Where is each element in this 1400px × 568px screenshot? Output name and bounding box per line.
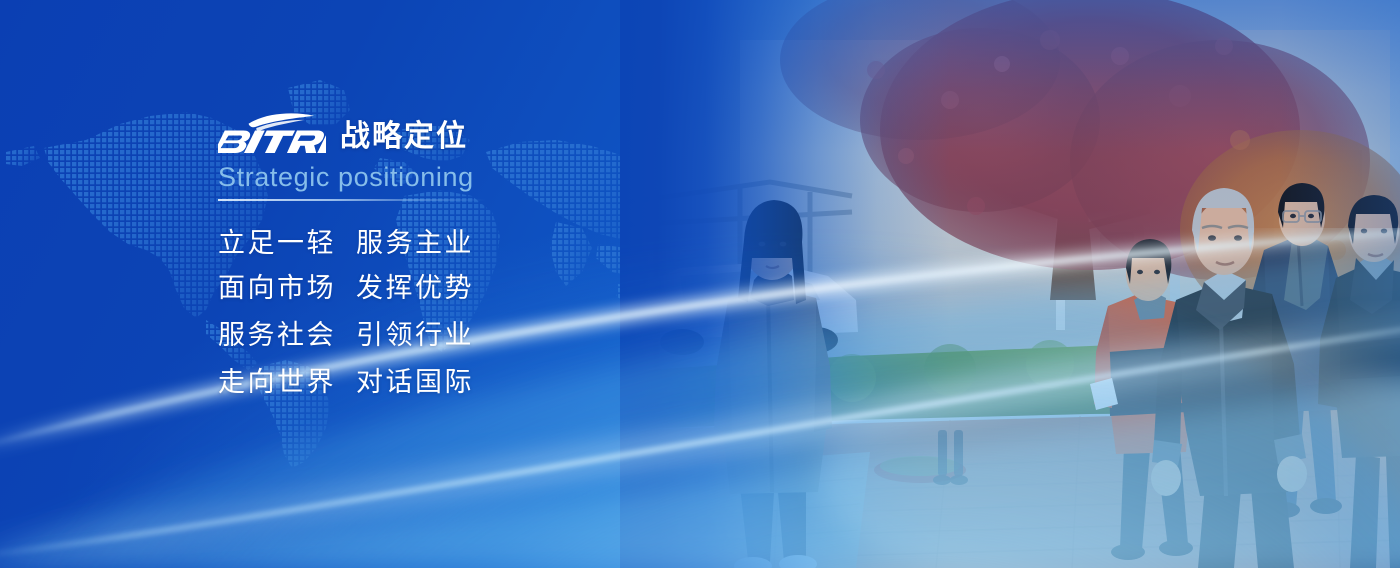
slogan-right: 发挥优势 [356,265,474,312]
slogan-list: 立足一轻 服务主业 面向市场 发挥优势 服务社会 引领行业 走向世界 对话国际 [218,221,688,406]
slogan-right: 对话国际 [356,359,474,406]
photo-scene [620,0,1400,568]
slogan-line: 服务社会 引领行业 [218,312,688,359]
slogan-left: 面向市场 [218,265,356,312]
bitri-logo[interactable] [218,112,326,154]
slogan-line: 走向世界 对话国际 [218,359,688,406]
slogan-left: 服务社会 [218,312,356,359]
slogan-right: 服务主业 [356,221,474,265]
strategic-positioning-banner: 战略定位 Strategic positioning 立足一轻 服务主业 面向市… [0,0,1400,568]
slogan-line: 面向市场 发挥优势 [218,265,688,312]
slogan-left: 走向世界 [218,359,356,406]
slogan-right: 引领行业 [356,312,474,359]
page-title: 战略定位 [340,120,468,154]
title-divider [218,199,486,201]
slogan-left: 立足一轻 [218,221,356,265]
slogan-line: 立足一轻 服务主业 [218,221,688,265]
banner-text-block: 战略定位 Strategic positioning 立足一轻 服务主业 面向市… [218,108,688,406]
title-row: 战略定位 [218,108,688,154]
subtitle-english: Strategic positioning [218,161,688,193]
campus-walk-photo [620,0,1400,568]
